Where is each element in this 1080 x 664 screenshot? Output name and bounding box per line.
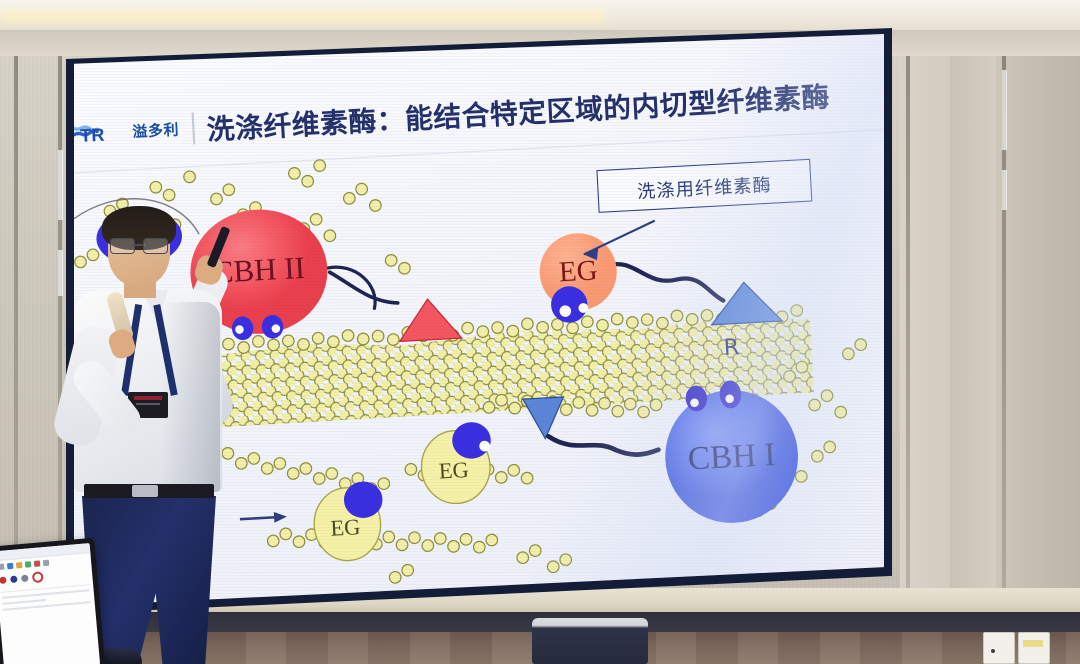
callout-text: 洗涤用纤维素酶 [636, 169, 772, 203]
power-outlet[interactable] [983, 632, 1015, 664]
eyeglasses [110, 238, 168, 252]
cbh2-cbm-triangle [398, 297, 462, 341]
label-reducing-end: R [723, 334, 740, 360]
presenter-laptop[interactable] [0, 538, 106, 664]
wall-seam-highlight [1002, 70, 1007, 150]
eg-top-linker [606, 258, 724, 306]
xtr-logo-icon: TR [74, 116, 128, 152]
header-divider [191, 112, 195, 144]
ceiling [0, 0, 1080, 34]
wall-seam [906, 52, 910, 612]
presenter-shirt-shadow [162, 302, 220, 492]
eg-1-label: EG [330, 514, 361, 541]
right-wall-panel [950, 52, 996, 612]
ceiling-light [0, 8, 605, 24]
wall-seam-highlight [58, 250, 63, 296]
wall-seam [58, 52, 62, 612]
wall-seam-highlight [1002, 170, 1007, 210]
endoglucanase-arrow [240, 511, 288, 524]
enzyme-eg-top: EG [538, 223, 783, 334]
belt-buckle [132, 485, 158, 497]
cbh1-label: CBH I [687, 436, 776, 478]
logo-company-name: 溢多利 [132, 118, 180, 142]
outlet-label [1023, 640, 1043, 647]
power-outlet[interactable] [1018, 632, 1050, 664]
eg-top-cbm-triangle [710, 280, 783, 324]
cbh2-linker [327, 265, 375, 311]
enzyme-eg-2: EG [419, 421, 494, 505]
trash-bin [532, 618, 648, 664]
outlet-sockets [991, 640, 1007, 645]
company-logo: TR 溢多利 [74, 113, 180, 151]
cbh1-cbm-triangle [523, 397, 566, 440]
eg-2-label: EG [438, 457, 469, 484]
wall-seam [14, 52, 18, 612]
cbh1-linker [548, 431, 658, 460]
laptop-screen [0, 543, 100, 664]
laptop-doc-line [2, 599, 46, 605]
eg-top-label: EG [558, 254, 598, 288]
wall-seam-highlight [58, 150, 63, 220]
svg-text:TR: TR [80, 125, 105, 146]
screenshot-canvas: TR 溢多利 洗涤纤维素酶：能结合特定区域的内切型纤维素酶 [0, 0, 1080, 664]
cbh2-linker-b [330, 269, 398, 307]
cellulose-chain-bottom [267, 517, 498, 564]
